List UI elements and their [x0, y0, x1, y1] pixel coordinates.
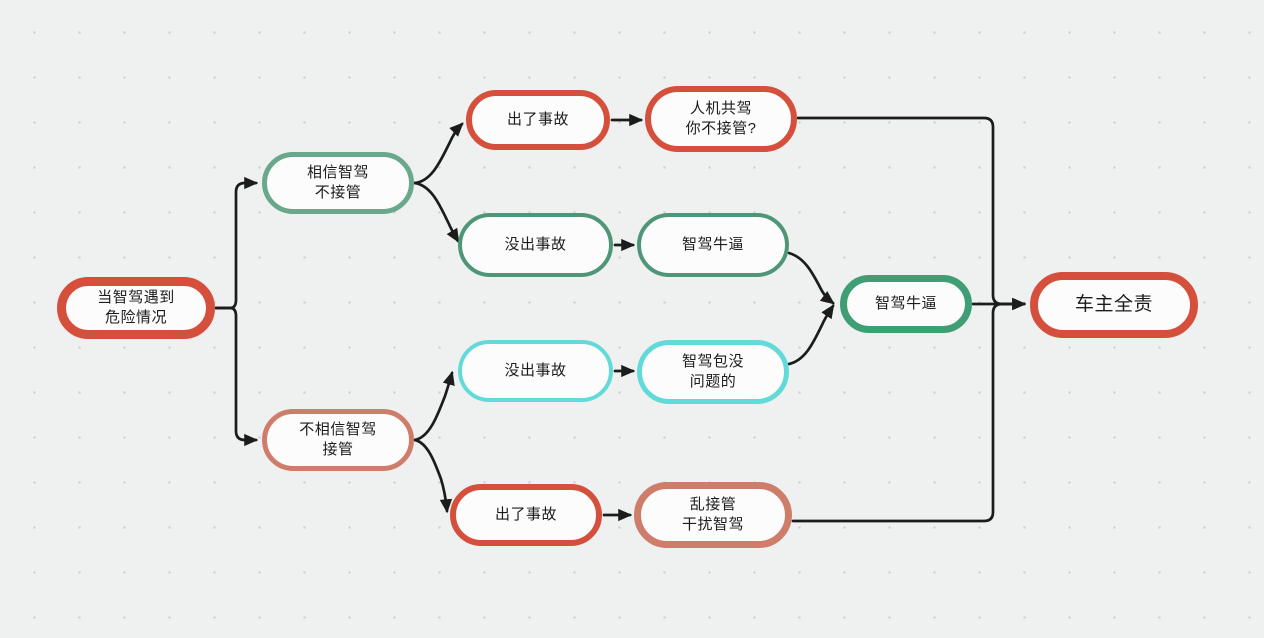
node-root[interactable]: 当智驾遇到 危险情况 [57, 277, 215, 339]
diagram-canvas: 当智驾遇到 危险情况相信智驾 不接管不相信智驾 接管出了事故人机共驾 你不接管?… [0, 0, 1264, 638]
edge-green-merge-top [789, 253, 833, 303]
node-label-merge-green: 智驾牛逼 [875, 294, 937, 314]
node-trust-no-accident-result[interactable]: 智驾牛逼 [637, 213, 789, 277]
node-distrust-accident-result[interactable]: 乱接管 干扰智驾 [634, 482, 792, 548]
node-distrust-no-accident-result[interactable]: 智驾包没 问题的 [637, 340, 789, 404]
edge-trust-to-accident [415, 124, 462, 183]
edge-root-to-trust [216, 183, 256, 308]
node-merge-green[interactable]: 智驾牛逼 [840, 275, 972, 333]
node-label-trust: 相信智驾 不接管 [307, 163, 369, 203]
edge-trust-to-no-accident [415, 183, 458, 241]
node-label-root: 当智驾遇到 危险情况 [97, 288, 175, 328]
node-trust-no-accident[interactable]: 没出事故 [458, 213, 613, 277]
edge-green-merge-bottom [789, 306, 833, 364]
edge-root-to-distrust [216, 308, 256, 440]
edge-distrust-to-no-accident [415, 373, 452, 440]
node-distrust-no-accident[interactable]: 没出事故 [458, 340, 613, 402]
node-label-trust-accident: 出了事故 [507, 110, 569, 130]
node-label-distrust-accident: 出了事故 [495, 505, 557, 525]
node-label-trust-no-accident-result: 智驾牛逼 [682, 235, 744, 255]
node-distrust-accident[interactable]: 出了事故 [450, 484, 602, 546]
node-label-distrust-accident-result: 乱接管 干扰智驾 [682, 495, 744, 535]
node-distrust[interactable]: 不相信智驾 接管 [262, 409, 414, 471]
edge-bottom-bypass-to-final [793, 304, 1024, 521]
node-label-distrust-no-accident-result: 智驾包没 问题的 [682, 352, 744, 392]
node-label-final: 车主全责 [1075, 292, 1153, 317]
node-label-distrust: 不相信智驾 接管 [299, 420, 377, 460]
node-label-trust-no-accident: 没出事故 [504, 235, 566, 255]
edge-distrust-to-accident [415, 440, 447, 511]
node-label-distrust-no-accident: 没出事故 [504, 361, 566, 381]
node-label-trust-accident-result: 人机共驾 你不接管? [686, 99, 757, 139]
node-final[interactable]: 车主全责 [1030, 272, 1198, 338]
node-trust[interactable]: 相信智驾 不接管 [262, 152, 414, 214]
node-trust-accident-result[interactable]: 人机共驾 你不接管? [645, 86, 797, 152]
node-trust-accident[interactable]: 出了事故 [466, 90, 610, 150]
